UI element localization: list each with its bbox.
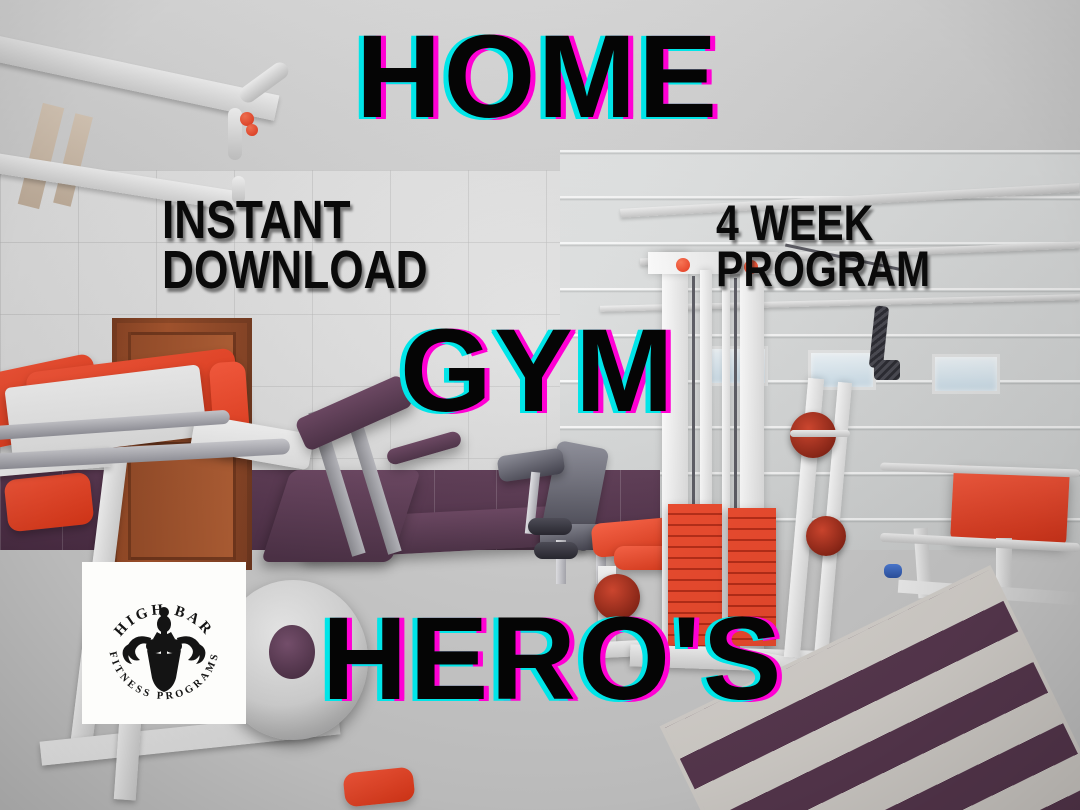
brand-logo-box: HIGH BAR FITNESS PROGRAMS: [82, 562, 246, 724]
poster-canvas: HOME GYM HERO'S INSTANT DOWNLOAD 4 WEEK …: [0, 0, 1080, 810]
headline-heros: HERO'S: [322, 606, 784, 712]
badge-instant-line1: INSTANT: [162, 196, 428, 246]
badge-instant-line2: DOWNLOAD: [162, 246, 428, 296]
badge-program-line1: 4 WEEK: [716, 200, 930, 246]
high-bar-logo-mark: HIGH BAR FITNESS PROGRAMS: [89, 568, 239, 718]
badge-program-line2: PROGRAM: [716, 246, 930, 292]
headline-home: HOME: [356, 24, 719, 130]
badge-4-week-program: 4 WEEK PROGRAM: [716, 200, 930, 292]
badge-instant-download: INSTANT DOWNLOAD: [162, 196, 428, 295]
headline-gym: GYM: [400, 318, 676, 424]
